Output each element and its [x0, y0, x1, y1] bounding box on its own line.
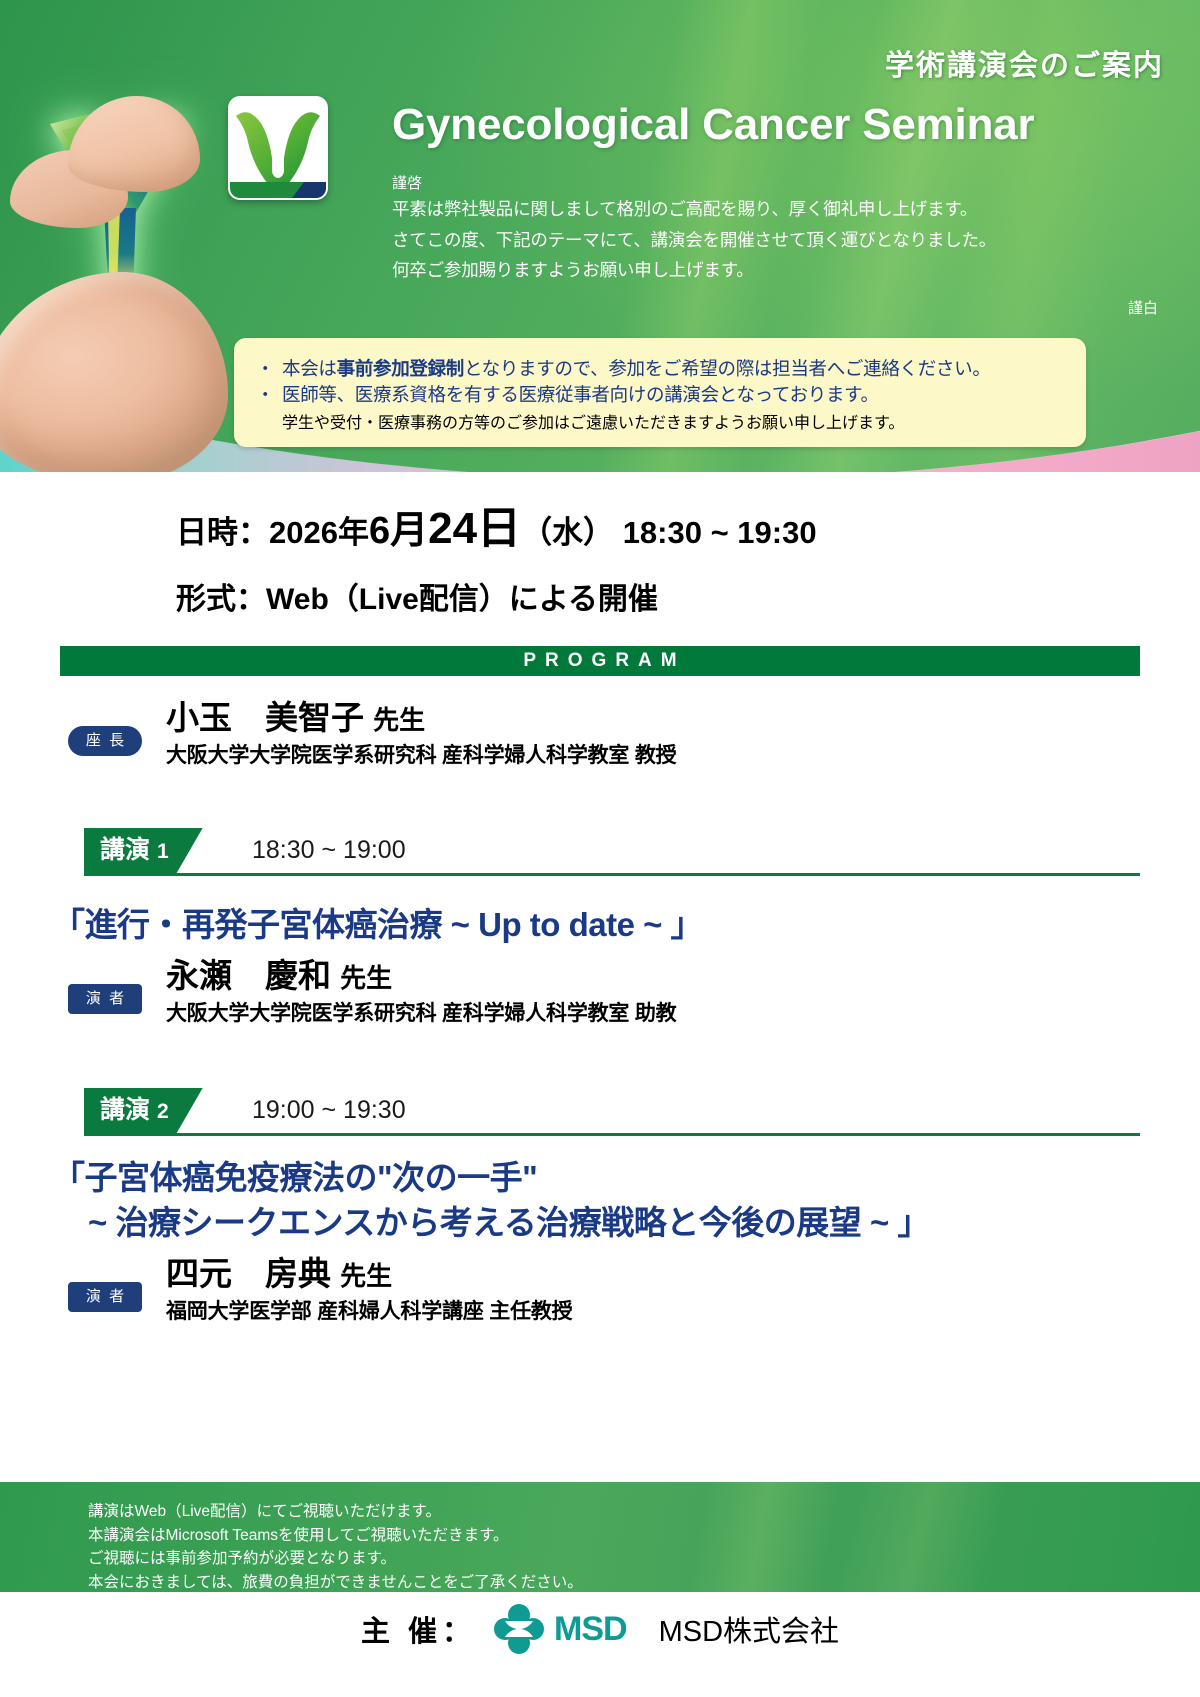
- lecture-2-time: 19:00 ~ 19:30: [252, 1088, 406, 1133]
- greeting-line-2: さてこの度、下記のテーマにて、講演会を開催させて頂く運びとなりました。: [392, 232, 1092, 250]
- lecture-2-speaker-name: 四元 房典 先生: [166, 1256, 1200, 1293]
- date-time: 18:30 ~ 19:30: [623, 515, 817, 550]
- page-title: Gynecological Cancer Seminar: [392, 100, 1034, 150]
- lecture-2-title-line1: 「子宮体癌免疫療法の"次の一手": [52, 1159, 537, 1196]
- footer-note-3: ご視聴には事前参加予約が必要となります。: [88, 1547, 1200, 1571]
- lecture-2-title-line2: ~ 治療シークエンスから考える治療戦略と今後の展望 ~ 」: [52, 1201, 1200, 1246]
- hero-banner: 学術講演会のご案内 Gynecological Cancer Seminar 謹…: [0, 0, 1200, 472]
- notice-item-2-sub: 学生や受付・医療事務の方等のご参加はご遠慮いただきますようお願い申し上げます。: [256, 409, 1064, 433]
- page-kicker: 学術講演会のご案内: [885, 42, 1164, 84]
- lecture-2-tab-label: 講演: [100, 1096, 150, 1124]
- event-details: 日時：2026年6月24日（水） 18:30 ~ 19:30 形式：Web（Li…: [0, 492, 1200, 618]
- lecture-1-speaker-name-text: 永瀬 慶和: [166, 957, 331, 994]
- date-weekday: （水）: [521, 515, 614, 550]
- footer-notes: 講演はWeb（Live配信）にてご視聴いただけます。 本講演会はMicrosof…: [0, 1482, 1200, 1592]
- lecture-2-speaker-affiliation: 福岡大学医学部 産科婦人科学講座 主任教授: [166, 1295, 1200, 1325]
- notice-1-post: となりますので、参加をご希望の際は担当者へご連絡ください。: [464, 358, 991, 379]
- notice-box: 本会は事前参加登録制となりますので、参加をご希望の際は担当者へご連絡ください。 …: [234, 338, 1086, 447]
- greeting-block: 謹啓 平素は弊社製品に関しまして格別のご高配を賜り、厚く御礼申し上げます。 さて…: [392, 176, 1092, 293]
- footer-note-1: 講演はWeb（Live配信）にてご視聴いただけます。: [88, 1500, 1200, 1524]
- date-month: 6月: [369, 510, 428, 552]
- lecture-2-tab: 講演 2: [84, 1088, 203, 1133]
- greeting-open: 謹啓: [392, 176, 1092, 191]
- lecture-1-speaker-name: 永瀬 慶和 先生: [166, 958, 1200, 995]
- format-label: 形式：: [176, 583, 266, 616]
- lecture-1-tab: 講演 1: [84, 828, 203, 873]
- format-value: Web（Live配信）による開催: [266, 583, 658, 616]
- sponsor-bar: 主 催： MSD MSD株式会社: [0, 1604, 1200, 1654]
- footer-note-4: 本会におきましては、旅費の負担ができませんことをご了承ください。: [88, 1571, 1200, 1595]
- notice-2-main: 医師等、医療系資格を有する医療従事者向けの講演会となっております。: [282, 384, 879, 405]
- lecture-1-speaker-row: 演 者 永瀬 慶和 先生 大阪大学大学院医学系研究科 産科学婦人科学教室 助教: [0, 958, 1200, 1032]
- lecture-2-speaker-badge: 演 者: [68, 1282, 142, 1312]
- chair-affiliation: 大阪大学大学院医学系研究科 産科学婦人科学教室 教授: [166, 739, 1200, 769]
- date-day: 24日: [428, 504, 521, 553]
- chairperson-row: 座 長 小玉 美智子 先生 大阪大学大学院医学系研究科 産科学婦人科学教室 教授: [0, 700, 1200, 774]
- event-format-line: 形式：Web（Live配信）による開催: [0, 574, 1200, 618]
- lecture-1-tab-label: 講演: [100, 836, 150, 864]
- lecture-1-header: 講演 1 18:30 ~ 19:00: [84, 828, 1140, 876]
- msd-clover-icon: [494, 1604, 544, 1654]
- msd-wordmark: MSD: [554, 1610, 627, 1649]
- notice-1-bold: 事前参加登録制: [337, 358, 464, 379]
- chair-name: 小玉 美智子 先生: [166, 700, 1200, 737]
- lecture-1-speaker-badge: 演 者: [68, 984, 142, 1014]
- msd-logo: MSD: [494, 1604, 627, 1654]
- chair-name-text: 小玉 美智子: [166, 699, 364, 736]
- lecture-2-title: 「子宮体癌免疫療法の"次の一手" ~ 治療シークエンスから考える治療戦略と今後の…: [0, 1156, 1200, 1246]
- program-bar: PROGRAM: [60, 646, 1140, 676]
- program-body: 座 長 小玉 美智子 先生 大阪大学大学院医学系研究科 産科学婦人科学教室 教授…: [0, 700, 1200, 1330]
- greeting-close: 謹白: [1128, 297, 1158, 318]
- event-datetime-line: 日時：2026年6月24日（水） 18:30 ~ 19:30: [0, 492, 1200, 556]
- uterus-icon: [228, 96, 328, 200]
- lecture-1-tab-number: 1: [157, 840, 169, 863]
- lecture-2-speaker-name-text: 四元 房典: [166, 1255, 331, 1292]
- lecture-2-tab-number: 2: [157, 1100, 169, 1123]
- lecture-1-time: 18:30 ~ 19:00: [252, 828, 406, 873]
- lecture-1-title: 「進行・再発子宮体癌治療 ~ Up to date ~ 」: [0, 898, 1200, 946]
- chair-honorific: 先生: [373, 705, 425, 735]
- notice-1-pre: 本会は: [282, 358, 337, 379]
- footer-note-2: 本講演会はMicrosoft Teamsを使用してご視聴いただきます。: [88, 1524, 1200, 1548]
- date-label: 日時：: [176, 515, 269, 550]
- lecture-1-speaker-affiliation: 大阪大学大学院医学系研究科 産科学婦人科学教室 助教: [166, 997, 1200, 1027]
- lecture-2-speaker-row: 演 者 四元 房典 先生 福岡大学医学部 産科婦人科学講座 主任教授: [0, 1256, 1200, 1330]
- lecture-1-speaker-honorific: 先生: [340, 963, 392, 993]
- lecture-2-header: 講演 2 19:00 ~ 19:30: [84, 1088, 1140, 1136]
- notice-item-2: 医師等、医療系資格を有する医療従事者向けの講演会となっております。: [256, 382, 1064, 408]
- lecture-2-speaker-honorific: 先生: [340, 1261, 392, 1291]
- date-year: 2026年: [269, 515, 369, 550]
- sponsor-company: MSD株式会社: [659, 1608, 839, 1650]
- chair-badge: 座 長: [68, 726, 142, 756]
- greeting-line-1: 平素は弊社製品に関しまして格別のご高配を賜り、厚く御礼申し上げます。: [392, 201, 1092, 219]
- greeting-line-3: 何卒ご参加賜りますようお願い申し上げます。: [392, 262, 1092, 280]
- notice-item-1: 本会は事前参加登録制となりますので、参加をご希望の際は担当者へご連絡ください。: [256, 356, 1064, 382]
- sponsor-label: 主 催：: [361, 1608, 476, 1650]
